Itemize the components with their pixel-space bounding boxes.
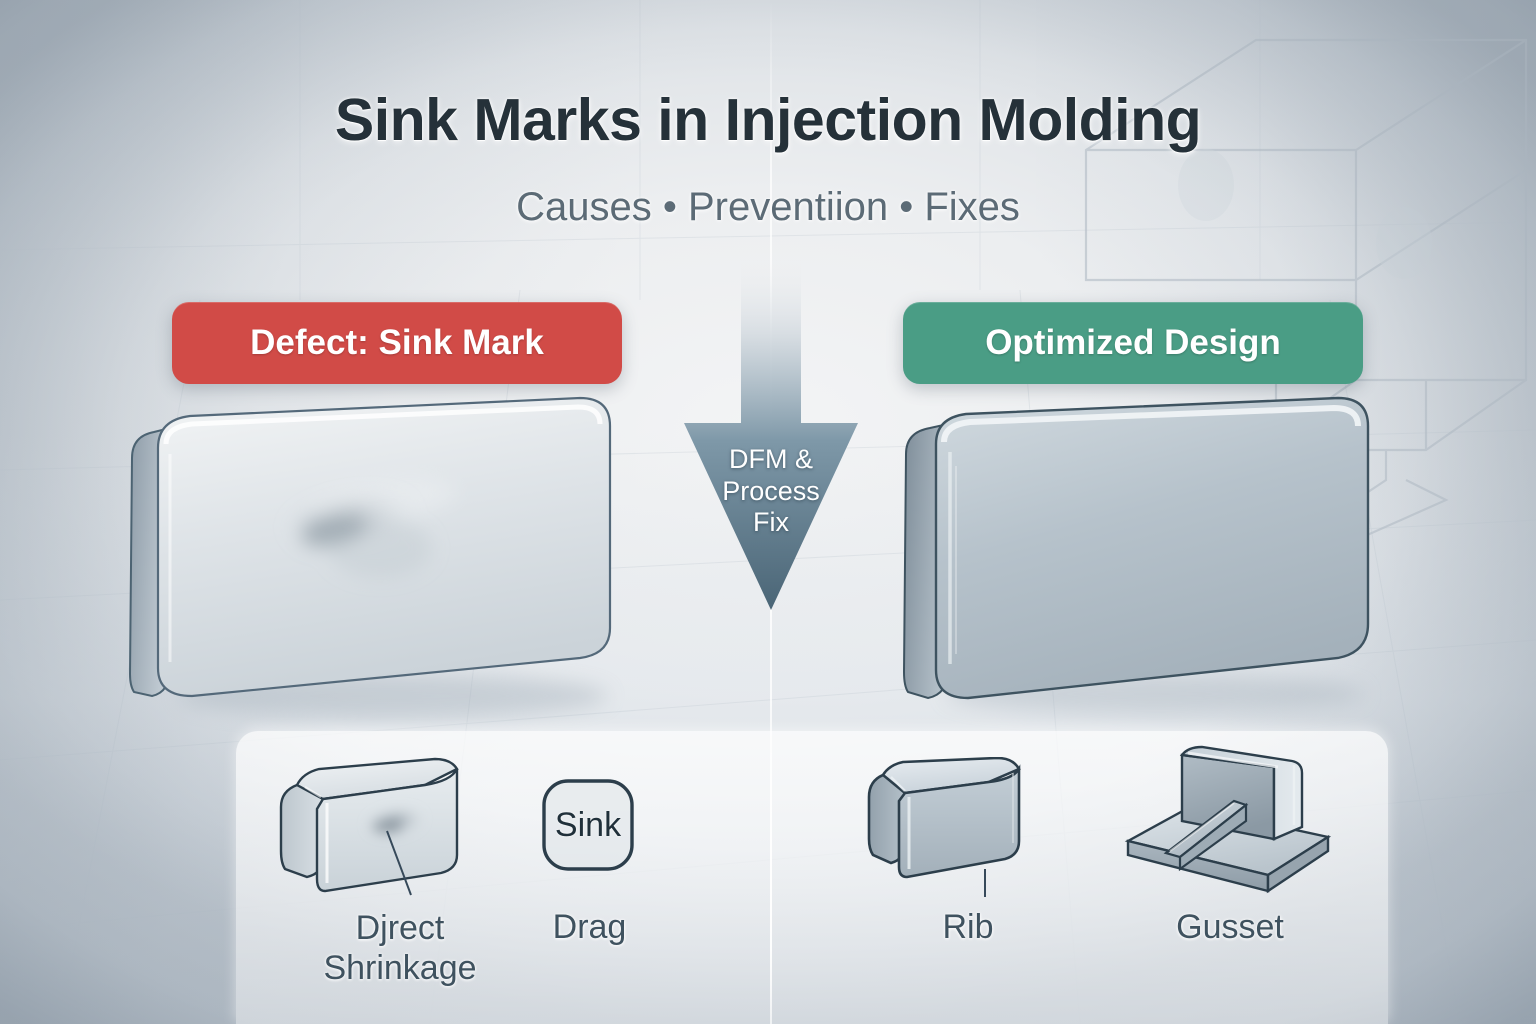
- sink-badge-icon[interactable]: Sink: [540, 777, 636, 873]
- transition-arrow: DFM & Process Fix: [678, 258, 864, 620]
- block-with-sink-icon: [275, 757, 485, 897]
- caption-direct-shrinkage: Djrect Shrinkage: [280, 908, 520, 988]
- panel-divider: [770, 731, 772, 1024]
- arrow-label-line2: Process: [678, 476, 864, 508]
- sink-badge-label: Sink: [540, 777, 636, 873]
- hero-defective-plate: [118, 396, 648, 736]
- optimized-plate-icon: [890, 396, 1420, 736]
- arrow-label: DFM & Process Fix: [678, 444, 864, 539]
- badge-optimized[interactable]: Optimized Design: [903, 302, 1363, 384]
- caption-direct-line1: Djrect: [280, 908, 520, 948]
- hero-optimized-plate: [890, 396, 1420, 736]
- caption-rib: Rib: [888, 908, 1048, 947]
- defective-plate-icon: [118, 396, 648, 736]
- badge-defect[interactable]: Defect: Sink Mark: [172, 302, 622, 384]
- rib-block-shape: [865, 757, 1040, 897]
- arrow-label-line3: Fix: [678, 507, 864, 539]
- gusset-shape: [1122, 745, 1337, 905]
- block-sink-shape: [275, 757, 485, 897]
- down-arrow-icon: [678, 258, 864, 620]
- caption-drag: Drag: [512, 908, 667, 947]
- caption-direct-line2: Shrinkage: [280, 948, 520, 988]
- caption-gusset: Gusset: [1120, 908, 1340, 947]
- page-title: Sink Marks in Injection Molding: [0, 86, 1536, 154]
- rib-block-icon: [865, 757, 1040, 897]
- infographic-canvas: Sink Marks in Injection Molding Causes •…: [0, 0, 1536, 1024]
- page-subtitle: Causes • Preventiion • Fixes: [0, 185, 1536, 230]
- arrow-label-line1: DFM &: [678, 444, 864, 476]
- gusset-icon: [1122, 745, 1337, 905]
